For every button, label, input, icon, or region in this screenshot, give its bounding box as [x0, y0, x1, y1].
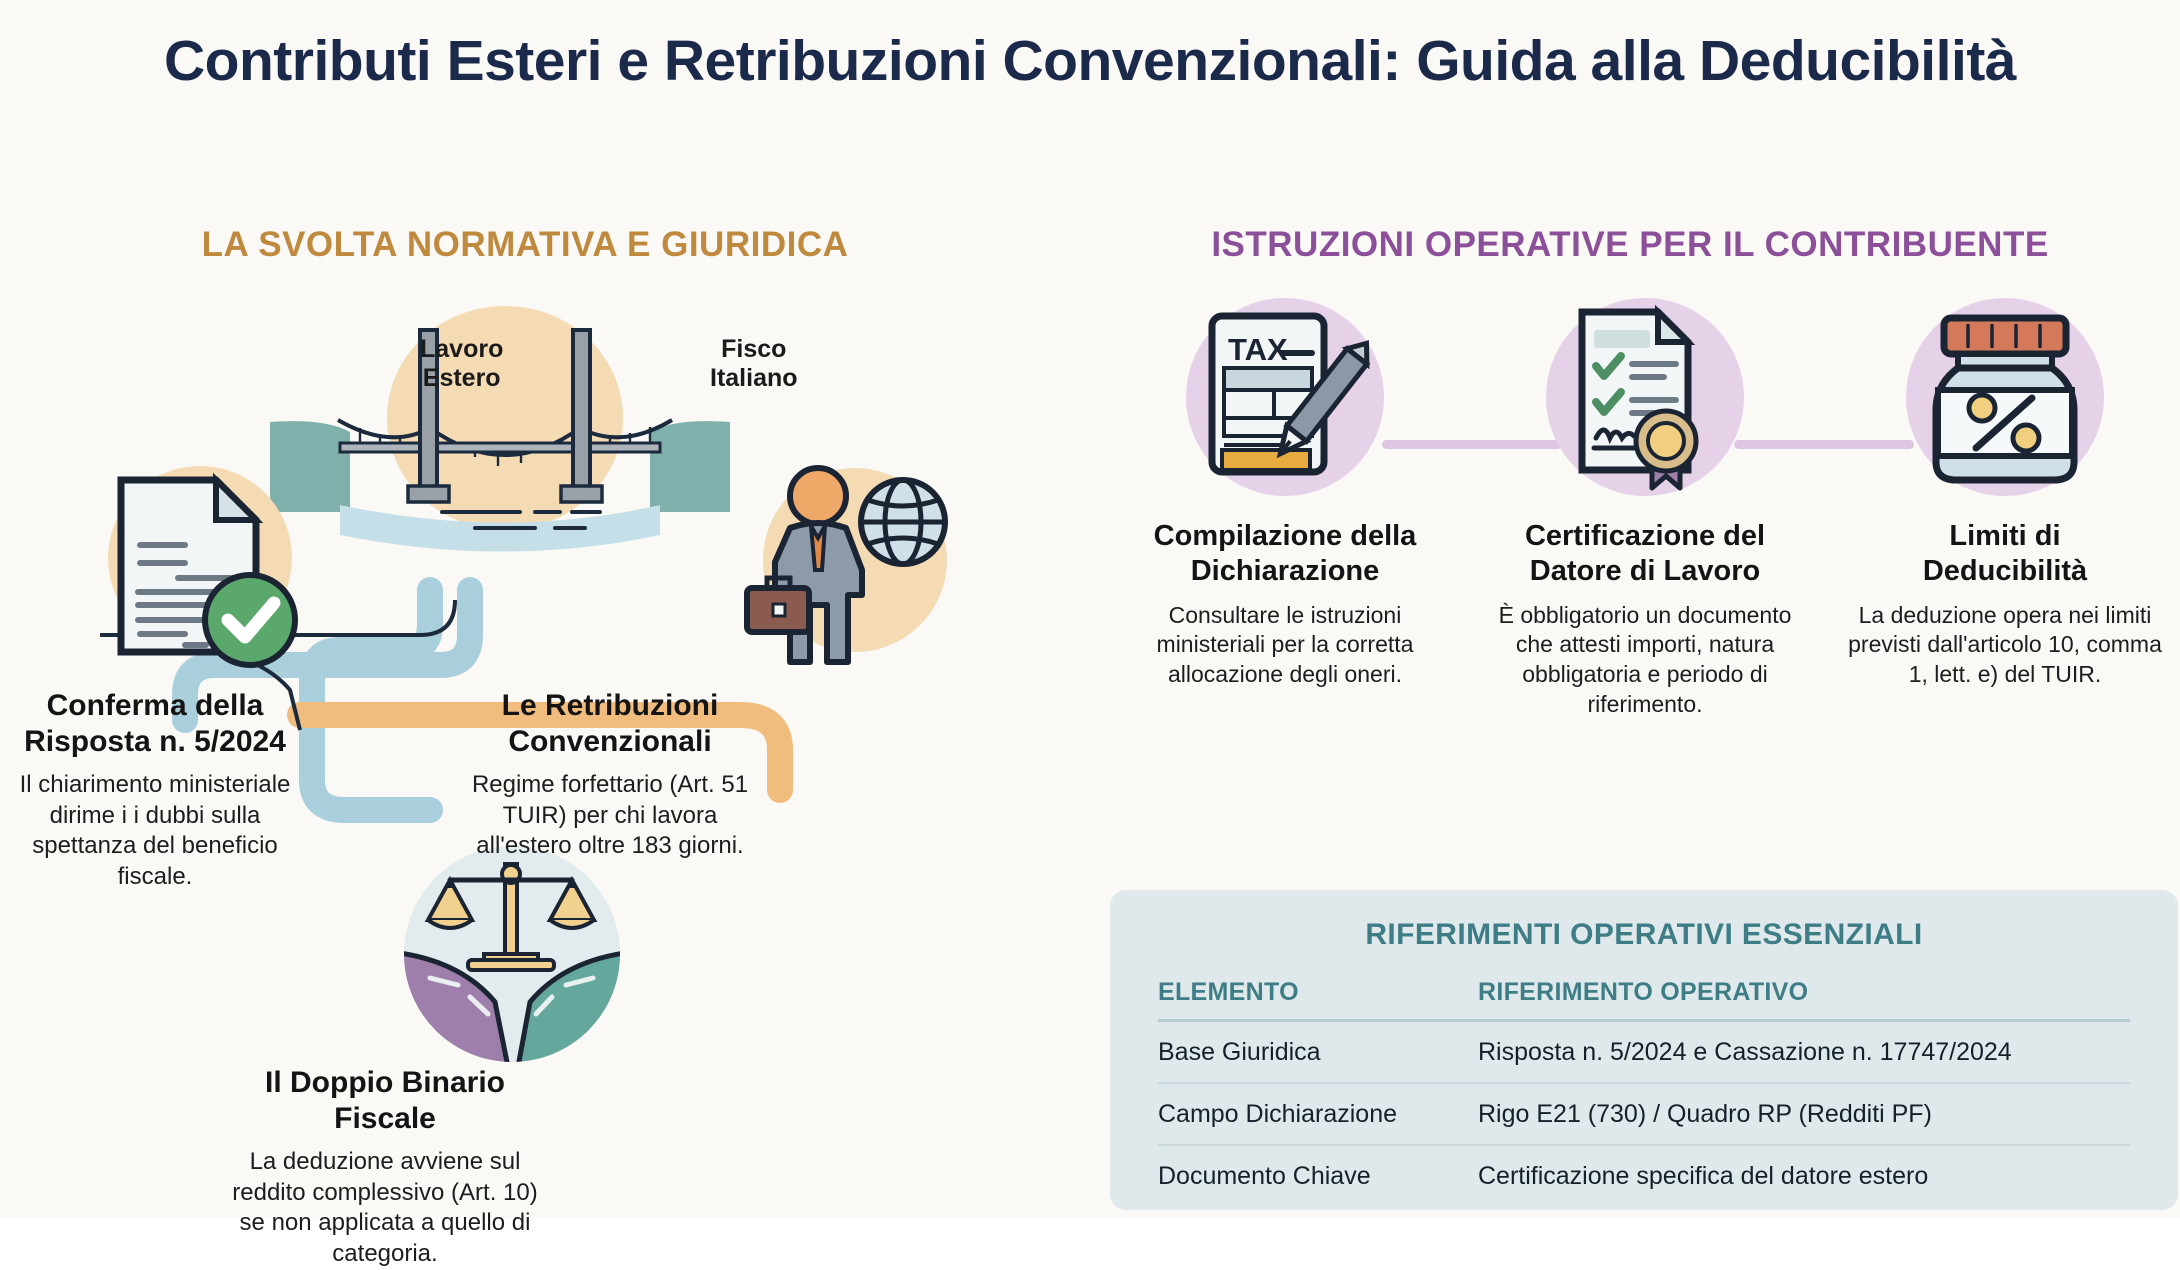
reference-table-box: RIFERIMENTI OPERATIVI ESSENZIALI ELEMENT…: [1110, 890, 2178, 1210]
tax-form-pen-icon: TAX: [1186, 298, 1384, 496]
cell-riferimento: Risposta n. 5/2024 e Cassazione n. 17747…: [1478, 1021, 2130, 1084]
cell-elemento: Documento Chiave: [1158, 1145, 1478, 1206]
table-row: Base Giuridica Risposta n. 5/2024 e Cass…: [1158, 1021, 2130, 1084]
bridge-label-right: Fisco Italiano: [710, 335, 798, 393]
tax-label: TAX: [1228, 332, 1288, 367]
cell-elemento: Base Giuridica: [1158, 1021, 1478, 1084]
column-header-elemento: ELEMENTO: [1158, 978, 1478, 1021]
right-section-heading: ISTRUZIONI OPERATIVE PER IL CONTRIBUENTE: [1130, 225, 2130, 265]
infographic-page: Contributi Esteri e Retribuzioni Convenz…: [0, 0, 2180, 1218]
card-body: La deduzione avviene sul reddito comples…: [230, 1147, 540, 1270]
card-title: Conferma della Risposta n. 5/2024: [10, 688, 300, 760]
page-title: Contributi Esteri e Retribuzioni Convenz…: [0, 28, 2180, 94]
scales-fork-road-icon: [400, 842, 625, 1067]
step-icon-wrap: TAX: [1120, 290, 1450, 505]
card-retribuzioni-convenzionali: Le Retribuzioni Convenzionali Regime for…: [460, 688, 760, 862]
card-body: Regime forfettario (Art. 51 TUIR) per ch…: [460, 770, 760, 862]
bridge-label-left: Lavoro Estero: [420, 335, 503, 393]
cell-riferimento: Rigo E21 (730) / Quadro RP (Redditi PF): [1478, 1083, 2130, 1145]
table-header-row: ELEMENTO RIFERIMENTO OPERATIVO: [1158, 978, 2130, 1021]
card-conferma-risposta: Conferma della Risposta n. 5/2024 Il chi…: [10, 688, 300, 893]
step-body: È obbligatorio un documento che attesti …: [1480, 601, 1810, 721]
percent-jar-icon: [1906, 298, 2104, 496]
step-icon-wrap: [1840, 290, 2170, 505]
step-title: Compilazione della Dichiarazione: [1120, 519, 1450, 589]
certificate-seal-icon: [1546, 298, 1744, 496]
step-certificazione-datore: Certificazione del Datore di Lavoro È ob…: [1480, 290, 1810, 720]
card-body: Il chiarimento ministeriale dirime i i d…: [10, 770, 300, 893]
right-panel: TAX: [1120, 290, 2170, 1220]
reference-table-title: RIFERIMENTI OPERATIVI ESSENZIALI: [1110, 918, 2178, 952]
left-section-heading: LA SVOLTA NORMATIVA E GIURIDICA: [150, 225, 900, 265]
column-header-riferimento: RIFERIMENTO OPERATIVO: [1478, 978, 2130, 1021]
reference-table: ELEMENTO RIFERIMENTO OPERATIVO Base Giur…: [1158, 978, 2130, 1206]
step-compilazione-dichiarazione: TAX: [1120, 290, 1450, 690]
step-icon-wrap: [1480, 290, 1810, 505]
businessman-globe-icon: [735, 440, 960, 675]
table-row: Documento Chiave Certificazione specific…: [1158, 1145, 2130, 1206]
card-doppio-binario-fiscale: Il Doppio Binario Fiscale La deduzione a…: [230, 1065, 540, 1270]
step-body: La deduzione opera nei limiti previsti d…: [1840, 601, 2170, 691]
card-title: Le Retribuzioni Convenzionali: [460, 688, 760, 760]
steps-row: TAX: [1120, 290, 2170, 620]
card-title: Il Doppio Binario Fiscale: [230, 1065, 540, 1137]
step-title: Certificazione del Datore di Lavoro: [1480, 519, 1810, 589]
table-row: Campo Dichiarazione Rigo E21 (730) / Qua…: [1158, 1083, 2130, 1145]
left-panel: Lavoro Estero Fisco Italiano: [0, 290, 1090, 1220]
step-body: Consultare le istruzioni ministeriali pe…: [1120, 601, 1450, 691]
cell-riferimento: Certificazione specifica del datore este…: [1478, 1145, 2130, 1206]
cell-elemento: Campo Dichiarazione: [1158, 1083, 1478, 1145]
step-limiti-deducibilita: Limiti di Deducibilità La deduzione oper…: [1840, 290, 2170, 690]
step-title: Limiti di Deducibilità: [1840, 519, 2170, 589]
document-check-icon: [88, 440, 318, 670]
